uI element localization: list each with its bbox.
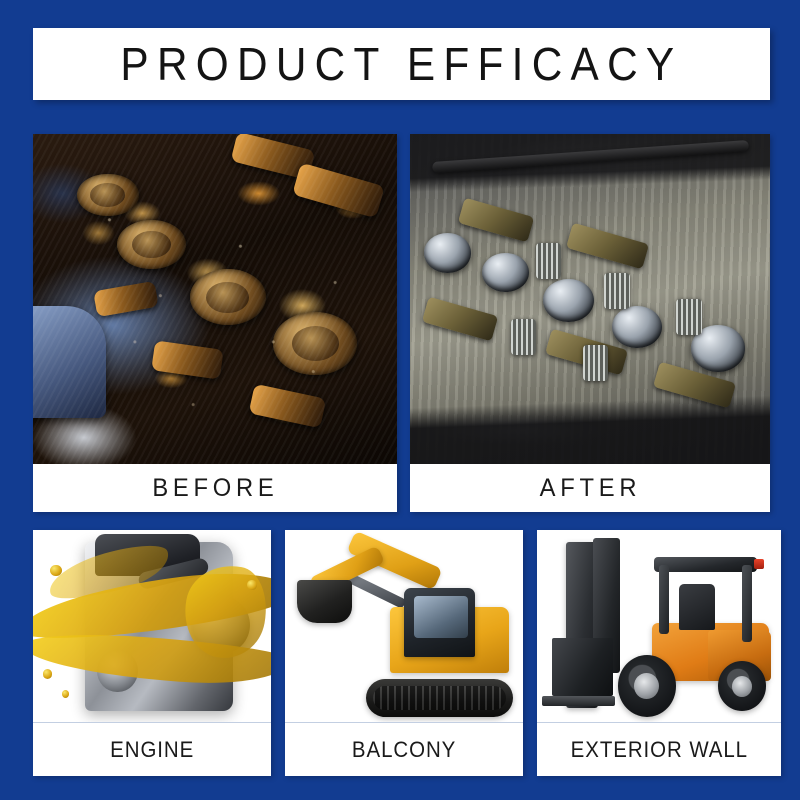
application-label-engine: ENGINE bbox=[110, 737, 194, 763]
photo-caption-separator bbox=[285, 722, 523, 723]
valve-bore-3 bbox=[190, 269, 266, 325]
oil-droplet-4 bbox=[247, 580, 257, 590]
camshaft-lobe-5 bbox=[249, 384, 326, 428]
valve-bore-1 bbox=[77, 174, 139, 217]
comparison-card-before[interactable]: BEFORE bbox=[33, 134, 397, 512]
application-card-engine[interactable]: ENGINE bbox=[33, 530, 271, 776]
application-label-exterior-wall: EXTERIOR WALL bbox=[570, 737, 747, 763]
infographic-page: PRODUCT EFFICACY BEFORE bbox=[0, 0, 800, 800]
page-title: PRODUCT EFFICACY bbox=[120, 37, 682, 91]
valve-spring-5 bbox=[583, 345, 608, 381]
yellow-excavator-photo bbox=[285, 530, 523, 723]
engine-with-oil-splash-photo bbox=[33, 530, 271, 723]
forklift-rear-tire bbox=[718, 661, 767, 711]
excavator-track bbox=[366, 679, 514, 718]
forklift-front-tire bbox=[618, 655, 677, 717]
engine-edge-shape bbox=[33, 306, 106, 418]
camshaft-lobe-1 bbox=[231, 134, 316, 180]
forklift-guard-post-rear bbox=[742, 565, 752, 642]
camshaft-section-1 bbox=[458, 197, 534, 242]
bucket-tappet-2 bbox=[482, 253, 529, 293]
camshaft-section-2 bbox=[566, 223, 649, 270]
valve-spring-2 bbox=[604, 273, 629, 309]
comparison-label-after: AFTER bbox=[539, 474, 641, 503]
caption-band-engine: ENGINE bbox=[33, 723, 271, 776]
application-card-balcony[interactable]: BALCONY bbox=[285, 530, 523, 776]
forklift-forks bbox=[542, 696, 615, 706]
caption-band-exterior-wall: EXTERIOR WALL bbox=[537, 723, 781, 776]
valve-bore-2 bbox=[117, 220, 186, 270]
application-card-exterior-wall[interactable]: EXTERIOR WALL bbox=[537, 530, 781, 776]
forklift-beacon-light bbox=[754, 559, 764, 569]
camshaft-lobe-4 bbox=[151, 341, 224, 380]
valve-spring-1 bbox=[536, 243, 561, 279]
bucket-tappet-1 bbox=[424, 233, 471, 273]
application-label-balcony: BALCONY bbox=[352, 737, 456, 763]
forklift-carriage bbox=[552, 638, 613, 696]
caption-band-balcony: BALCONY bbox=[285, 723, 523, 776]
orange-forklift-photo bbox=[537, 530, 781, 723]
dirty-engine-cylinder-head-photo bbox=[33, 134, 397, 464]
caption-band-after: AFTER bbox=[410, 464, 770, 512]
comparison-card-after[interactable]: AFTER bbox=[410, 134, 770, 512]
valve-bore-4 bbox=[273, 312, 357, 375]
title-banner: PRODUCT EFFICACY bbox=[33, 28, 770, 100]
clean-engine-cylinder-head-photo bbox=[410, 134, 770, 464]
excavator-bucket bbox=[297, 580, 352, 622]
bucket-tappet-3 bbox=[543, 279, 593, 322]
comparison-label-before: BEFORE bbox=[152, 474, 278, 503]
oil-droplet-1 bbox=[50, 565, 62, 577]
camshaft-section-3 bbox=[422, 296, 498, 341]
forklift-guard-post-front bbox=[659, 565, 669, 634]
excavator-cab-glass bbox=[414, 596, 469, 638]
oil-droplet-2 bbox=[43, 669, 53, 679]
oil-droplet-3 bbox=[62, 690, 69, 698]
caption-band-before: BEFORE bbox=[33, 464, 397, 512]
bucket-tappet-4 bbox=[612, 306, 662, 349]
camshaft-lobe-2 bbox=[292, 162, 385, 218]
photo-caption-separator bbox=[537, 722, 781, 723]
camshaft-lobe-3 bbox=[93, 281, 159, 318]
forklift-seat bbox=[679, 584, 716, 630]
photo-caption-separator bbox=[33, 722, 271, 723]
engine-hose bbox=[432, 139, 749, 172]
valve-spring-4 bbox=[511, 319, 536, 355]
valve-spring-3 bbox=[676, 299, 701, 335]
